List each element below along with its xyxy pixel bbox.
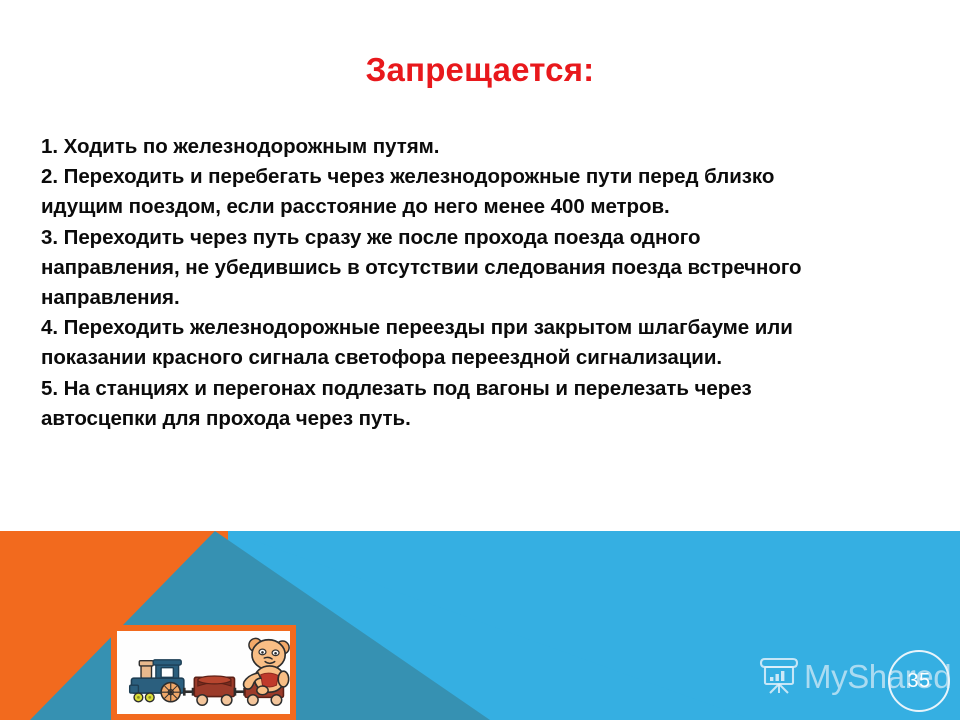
- toy-train-illustration: [117, 631, 290, 714]
- list-item: 5. На станциях и перегонах подлезать под…: [41, 374, 921, 404]
- list-item: автосцепки для прохода через путь.: [41, 404, 921, 434]
- presentation-board-icon: [756, 656, 800, 698]
- list-item: идущим поездом, если расстояние до него …: [41, 192, 921, 222]
- list-item: направления.: [41, 283, 921, 313]
- list-item: направления, не убедившись в отсутствии …: [41, 253, 921, 283]
- slide-canvas: Запрещается: 1. Ходить по железнодорожны…: [0, 0, 960, 720]
- page-title: Запрещается:: [0, 50, 960, 90]
- list-item: 1. Ходить по железнодорожным путям.: [41, 132, 921, 162]
- prohibitions-list: 1. Ходить по железнодорожным путям. 2. П…: [41, 132, 921, 434]
- list-item: 4. Переходить железнодорожные переезды п…: [41, 313, 921, 343]
- toy-train-image-inner: [117, 631, 290, 714]
- toy-train-image: [111, 625, 296, 720]
- list-item: 3. Переходить через путь сразу же после …: [41, 223, 921, 253]
- page-number-badge: 35: [888, 650, 950, 712]
- list-item: показании красного сигнала светофора пер…: [41, 343, 921, 373]
- list-item: 2. Переходить и перебегать через железно…: [41, 162, 921, 192]
